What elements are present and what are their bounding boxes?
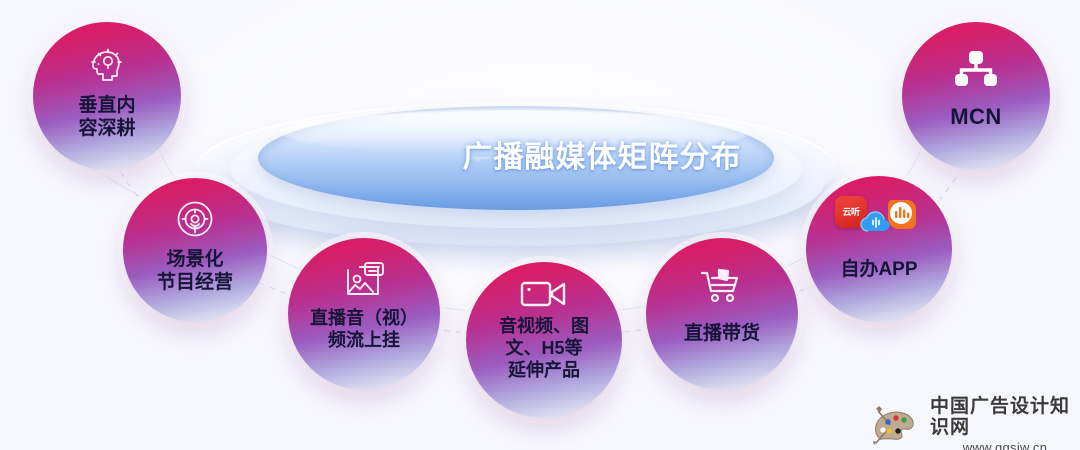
bubble-label: 垂直内 容深耕 (78, 94, 135, 140)
paint-palette-icon (872, 401, 924, 450)
bubble-vertical-content[interactable]: 垂直内 容深耕 (33, 22, 181, 170)
infographic-canvas: 广播融媒体矩阵分布 广播融媒体矩阵分布 垂直内 容深耕 场景 (0, 0, 1080, 450)
bubble-label: 场景化 节目经营 (157, 248, 233, 294)
hierarchy-sitemap-icon (954, 50, 998, 88)
head-lightbulb-icon (84, 44, 130, 86)
bubble-label: 音视频、图 文、H5等 延伸产品 (499, 316, 589, 382)
bubble-scene-program[interactable]: 场景化 节目经营 (123, 178, 267, 322)
bubble-mcn[interactable]: MCN (902, 22, 1050, 170)
bubble-extended-products[interactable]: 音视频、图 文、H5等 延伸产品 (466, 262, 622, 418)
watermark: 中国广告设计知识网 www.ggsjw.cn (872, 396, 1080, 450)
video-camera-icon (519, 276, 569, 312)
target-radar-icon (174, 198, 216, 240)
watermark-url: www.ggsjw.cn (930, 440, 1080, 450)
watermark-site-name: 中国广告设计知识网 (930, 396, 1080, 438)
bubble-label: 直播带货 (684, 322, 760, 345)
bubble-label: 直播音（视） 频流上挂 (310, 308, 418, 352)
bubble-live-commerce[interactable]: 直播带货 (646, 238, 798, 390)
bubble-live-stream-feed[interactable]: 直播音（视） 频流上挂 (288, 238, 440, 390)
center-title: 广播融媒体矩阵分布 (392, 132, 812, 176)
app-icon-cluster: 云听 (833, 196, 925, 242)
bubble-label: MCN (950, 104, 1002, 131)
cloud-app-icon (859, 207, 893, 237)
image-person-chat-icon (340, 258, 388, 302)
yunting-app-label: 云听 (842, 208, 859, 217)
bubble-self-run-app[interactable]: 云听 (806, 176, 952, 322)
bubble-label: 自办APP (840, 258, 917, 281)
shopping-cart-icon (699, 266, 745, 306)
